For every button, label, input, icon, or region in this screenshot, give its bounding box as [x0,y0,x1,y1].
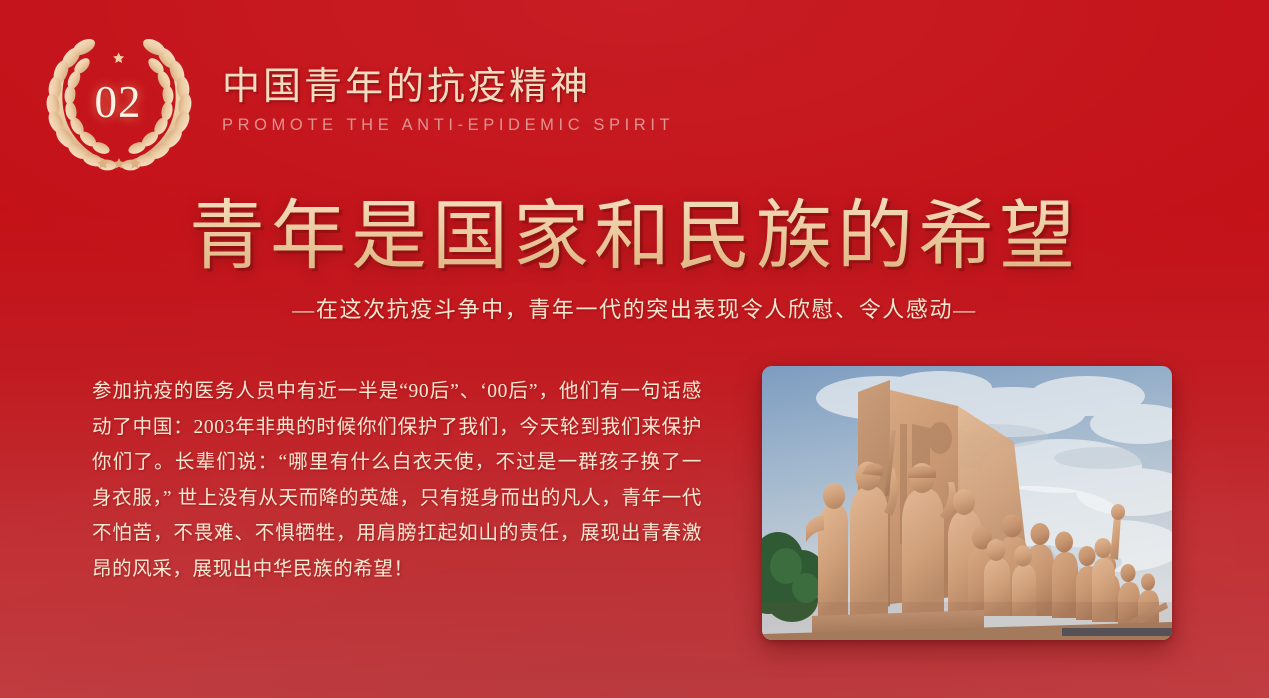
section-emblem: 02 [38,28,200,178]
hero-title: 青年是国家和民族的希望 [0,196,1269,278]
slide-root: 02 中国青年的抗疫精神 PROMOTE THE ANTI-EPIDEMIC S… [0,0,1269,698]
section-header: 02 中国青年的抗疫精神 PROMOTE THE ANTI-EPIDEMIC S… [38,28,674,178]
hero-subtitle: —在这次抗疫斗争中，青年一代的突出表现令人欣慰、令人感动— [0,292,1269,324]
section-number: 02 [38,80,198,125]
monument-photo-illustration [762,366,1172,640]
hero-block: 青年是国家和民族的希望 —在这次抗疫斗争中，青年一代的突出表现令人欣慰、令人感动… [0,196,1269,324]
section-subtitle-english: PROMOTE THE ANTI-EPIDEMIC SPIRIT [222,116,674,135]
section-title: 中国青年的抗疫精神 [222,65,674,110]
star-icon [113,52,124,63]
body-paragraph: 参加抗疫的医务人员中有近一半是“90后”、‘00后”，他们有一句话感动了中国：2… [92,374,702,587]
monument-photo [762,366,1172,640]
section-header-text: 中国青年的抗疫精神 PROMOTE THE ANTI-EPIDEMIC SPIR… [222,65,674,142]
